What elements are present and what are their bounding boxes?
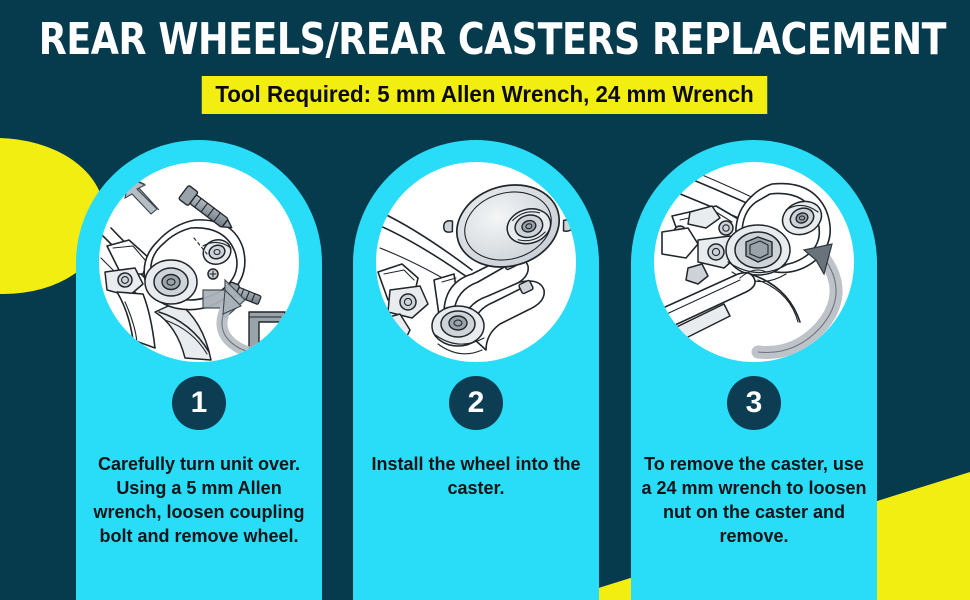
tool-required-banner: Tool Required: 5 mm Allen Wrench, 24 mm … xyxy=(0,76,970,114)
wheel-into-caster-diagram xyxy=(376,162,576,362)
step-caption-2: Install the wheel into the caster. xyxy=(361,452,591,500)
page-title: REAR WHEELS/REAR CASTERS REPLACEMENT xyxy=(39,16,931,64)
step-3-illustration xyxy=(654,162,854,362)
step-card-2: 2 Install the wheel into the caster. xyxy=(353,140,599,600)
caster-bolt-removal-diagram xyxy=(99,162,299,362)
step-1-illustration xyxy=(99,162,299,362)
step-number-badge-2: 2 xyxy=(449,376,503,430)
header: REAR WHEELS/REAR CASTERS REPLACEMENT Too… xyxy=(0,0,970,132)
step-2-illustration xyxy=(376,162,576,362)
step-card-3: 3 To remove the caster, use a 24 mm wren… xyxy=(631,140,877,600)
step-caption-3: To remove the caster, use a 24 mm wrench… xyxy=(639,452,869,548)
step-number-badge-1: 1 xyxy=(172,376,226,430)
infographic-canvas: REAR WHEELS/REAR CASTERS REPLACEMENT Too… xyxy=(0,0,970,600)
tool-required-label: Tool Required: 5 mm Allen Wrench, 24 mm … xyxy=(202,76,768,114)
step-card-1: 1 Carefully turn unit over. Using a 5 mm… xyxy=(76,140,322,600)
step-caption-1: Carefully turn unit over. Using a 5 mm A… xyxy=(84,452,314,548)
step-number-badge-3: 3 xyxy=(727,376,781,430)
wrench-on-caster-nut-diagram xyxy=(654,162,854,362)
arrow-pull-out xyxy=(125,176,159,214)
